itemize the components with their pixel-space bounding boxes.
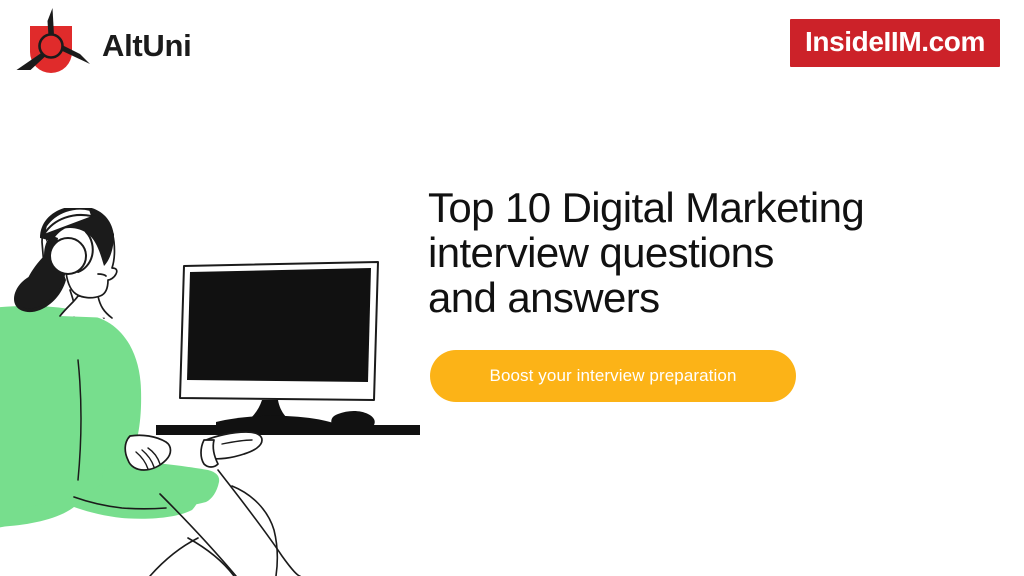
site-badge[interactable]: InsideIIM.com bbox=[790, 19, 1000, 67]
headline-line-1: Top 10 Digital Marketing bbox=[428, 186, 988, 231]
page-title: Top 10 Digital Marketing interview quest… bbox=[428, 186, 988, 321]
promo-banner: AltUni InsideIIM.com Top 10 Digital Mark… bbox=[0, 0, 1024, 576]
brand-name: AltUni bbox=[102, 30, 191, 61]
headline-line-2: interview questions bbox=[428, 231, 988, 276]
site-badge-label: InsideIIM.com bbox=[805, 26, 985, 57]
brand-lockup[interactable]: AltUni bbox=[14, 8, 191, 82]
boost-interview-preparation-button[interactable]: Boost your interview preparation bbox=[430, 350, 796, 402]
headline-line-3: and answers bbox=[428, 276, 988, 321]
woman-at-computer-illustration bbox=[0, 208, 420, 576]
altuni-propeller-logo-icon bbox=[14, 8, 92, 82]
